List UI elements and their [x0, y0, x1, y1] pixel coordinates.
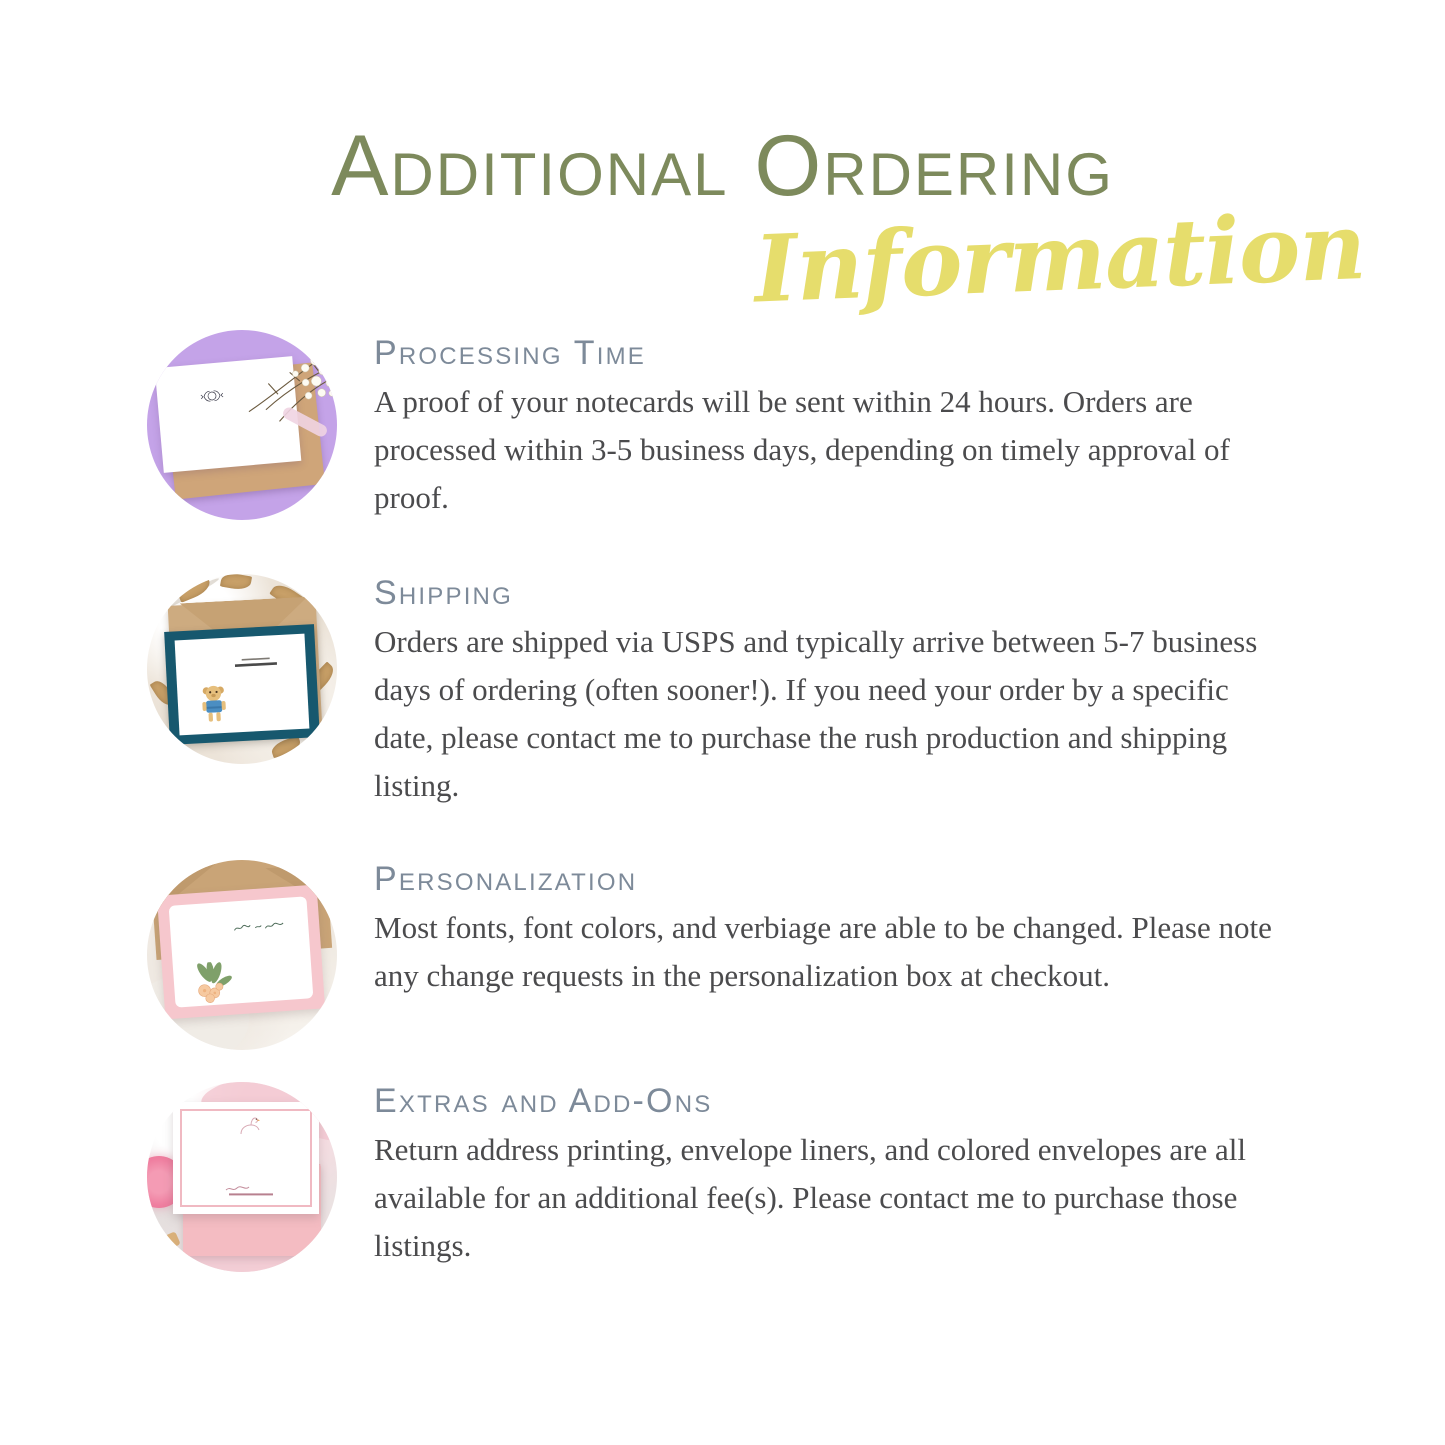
thumbnail-wrapper	[147, 330, 337, 520]
dried-leaf	[220, 574, 252, 591]
section-text: Orders are shipped via USPS and typicall…	[374, 618, 1294, 810]
section-text: A proof of your notecards will be sent w…	[374, 378, 1294, 522]
teddy-bear-icon	[198, 683, 230, 723]
dried-leaf	[175, 574, 213, 602]
pink-scalloped-notecard-photo	[147, 860, 337, 1050]
pink-envelope-swan-notecard-photo	[147, 1082, 337, 1272]
section-heading: Personalization	[374, 860, 1415, 898]
section-extras-and-add-ons: Extras and Add-Ons Return address printi…	[0, 1082, 1445, 1272]
section-text: Return address printing, envelope liners…	[374, 1126, 1294, 1270]
teal-teddy-bear-notecard-photo	[147, 574, 337, 764]
section-processing-time: Processing Time A proof of your notecard…	[0, 330, 1445, 522]
ordering-information-page: Additional Ordering Information	[0, 0, 1445, 1445]
thread-spool-shape	[151, 1231, 180, 1254]
section-heading: Shipping	[374, 574, 1415, 612]
notecard-inner	[175, 634, 310, 736]
printed-name-lines	[223, 1185, 279, 1197]
section-body: Processing Time A proof of your notecard…	[374, 334, 1445, 522]
swan-icon	[237, 1115, 263, 1137]
sections-list: Processing Time A proof of your notecard…	[0, 330, 1445, 1272]
notecard-inner	[169, 896, 314, 1007]
lavender-notecard-photo	[147, 330, 337, 520]
thumbnail-wrapper	[147, 1082, 337, 1272]
section-body: Shipping Orders are shipped via USPS and…	[374, 574, 1445, 810]
section-heading: Processing Time	[374, 334, 1415, 372]
printed-name-lines	[233, 656, 280, 670]
notecard-shape	[173, 1102, 319, 1214]
section-personalization: Personalization Most fonts, font colors,…	[0, 860, 1445, 1050]
script-name-text	[233, 920, 286, 934]
section-heading: Extras and Add-Ons	[374, 1082, 1415, 1120]
thumbnail-wrapper	[147, 574, 337, 764]
notecard-shape	[157, 885, 325, 1020]
thumbnail-wrapper	[147, 860, 337, 1050]
floral-sprig-icon	[189, 961, 236, 1006]
page-title-script: Information	[752, 194, 1367, 321]
section-body: Extras and Add-Ons Return address printi…	[374, 1082, 1445, 1270]
section-body: Personalization Most fonts, font colors,…	[374, 860, 1445, 1000]
section-shipping: Shipping Orders are shipped via USPS and…	[0, 574, 1445, 810]
section-text: Most fonts, font colors, and verbiage ar…	[374, 904, 1294, 1000]
monogram-crest-icon	[198, 386, 225, 406]
notecard-shape	[164, 624, 320, 745]
page-header: Additional Ordering Information	[0, 118, 1445, 308]
